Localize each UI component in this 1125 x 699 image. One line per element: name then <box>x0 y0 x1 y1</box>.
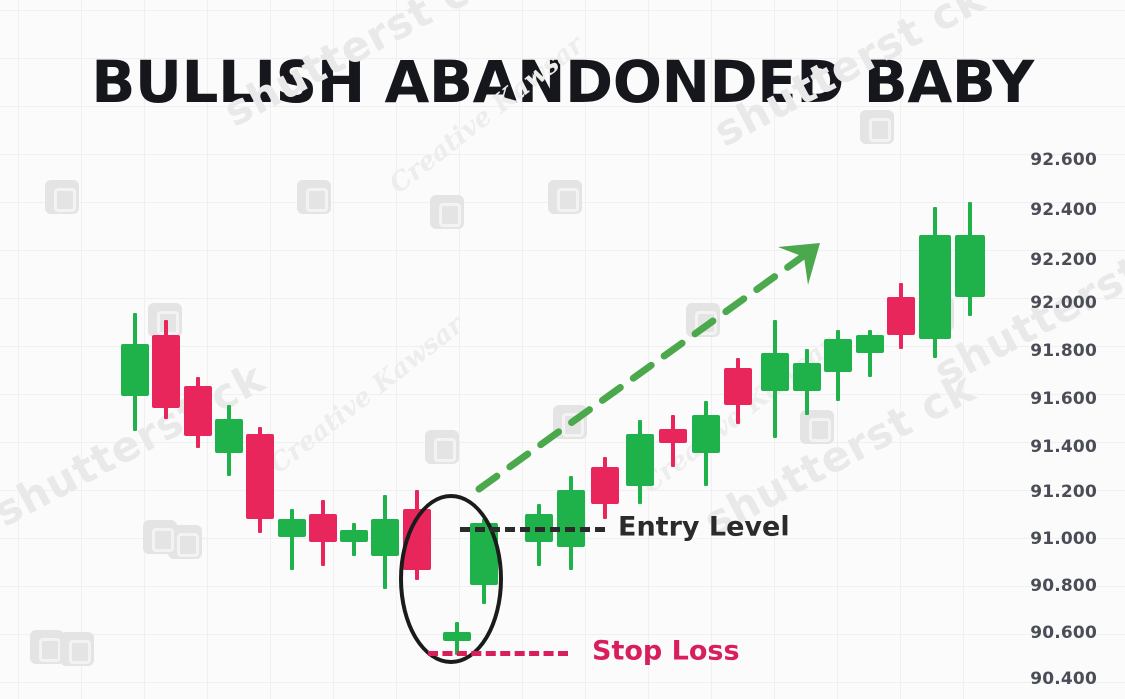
candlestick <box>824 330 852 401</box>
candle-body-bullish <box>856 335 884 354</box>
candlestick <box>246 427 274 533</box>
candlestick <box>887 283 915 349</box>
candlestick <box>692 401 720 486</box>
candlestick <box>793 349 821 415</box>
candle-body-bearish <box>724 368 752 406</box>
candle-body-bullish <box>761 353 789 391</box>
price-axis-tick: 92.600 <box>1030 150 1097 170</box>
abandoned-baby-pattern <box>399 494 503 664</box>
candlestick <box>371 495 399 589</box>
candlestick-plot-area <box>0 0 1010 699</box>
candle-body-bullish <box>557 490 585 547</box>
candle-body-bullish <box>371 519 399 557</box>
price-axis-tick: 92.200 <box>1030 250 1097 270</box>
candle-body-bullish <box>919 235 951 339</box>
price-axis-tick: 91.400 <box>1030 437 1097 457</box>
candle-body-bearish <box>591 467 619 505</box>
candlestick <box>278 509 306 570</box>
candlestick <box>591 457 619 518</box>
stop-loss-line <box>428 651 568 656</box>
candlestick <box>309 500 337 566</box>
candle-body-bearish <box>887 297 915 335</box>
candlestick-chart-infographic: BULLISH ABANDONDED BABY shutterst ckshut… <box>0 0 1125 699</box>
price-axis-tick: 90.600 <box>1030 623 1097 643</box>
candlestick <box>761 320 789 438</box>
candle-body-bullish <box>626 434 654 486</box>
candlestick <box>955 202 985 315</box>
candle-body-bearish <box>246 434 274 519</box>
candlestick <box>215 405 243 476</box>
candle-body-bullish <box>121 344 149 396</box>
entry-level-line <box>460 527 605 532</box>
candle-body-bullish <box>955 235 985 296</box>
candlestick <box>557 476 585 570</box>
candlestick <box>121 313 149 431</box>
candle-body-bullish <box>692 415 720 453</box>
candle-body-bearish <box>184 386 212 436</box>
price-axis-tick: 92.000 <box>1030 293 1097 313</box>
price-axis-tick: 90.800 <box>1030 576 1097 596</box>
candle-body-bullish <box>340 530 368 542</box>
candlestick <box>184 377 212 448</box>
candle-body-bearish <box>659 429 687 443</box>
price-axis-tick: 91.600 <box>1030 389 1097 409</box>
stop-loss-label: Stop Loss <box>592 636 740 667</box>
candle-body-bearish <box>309 514 337 542</box>
price-axis-tick: 91.800 <box>1030 341 1097 361</box>
price-axis-tick: 92.400 <box>1030 200 1097 220</box>
entry-level-label: Entry Level <box>618 512 790 543</box>
candlestick <box>340 523 368 556</box>
candlestick <box>626 420 654 505</box>
candlestick <box>152 320 180 419</box>
candle-body-bullish <box>278 519 306 538</box>
candlestick <box>919 207 951 358</box>
candle-body-bearish <box>152 335 180 408</box>
price-axis-tick: 90.400 <box>1030 669 1097 689</box>
candlestick <box>724 358 752 424</box>
price-axis-tick: 91.000 <box>1030 529 1097 549</box>
candle-body-bullish <box>215 419 243 452</box>
candlestick <box>525 504 553 565</box>
price-axis-tick: 91.200 <box>1030 482 1097 502</box>
candle-body-bullish <box>824 339 852 372</box>
candle-body-bullish <box>793 363 821 391</box>
candlestick <box>856 330 884 377</box>
candlestick <box>659 415 687 467</box>
price-axis: 92.60092.40092.20092.00091.80091.60091.4… <box>1005 0 1125 699</box>
